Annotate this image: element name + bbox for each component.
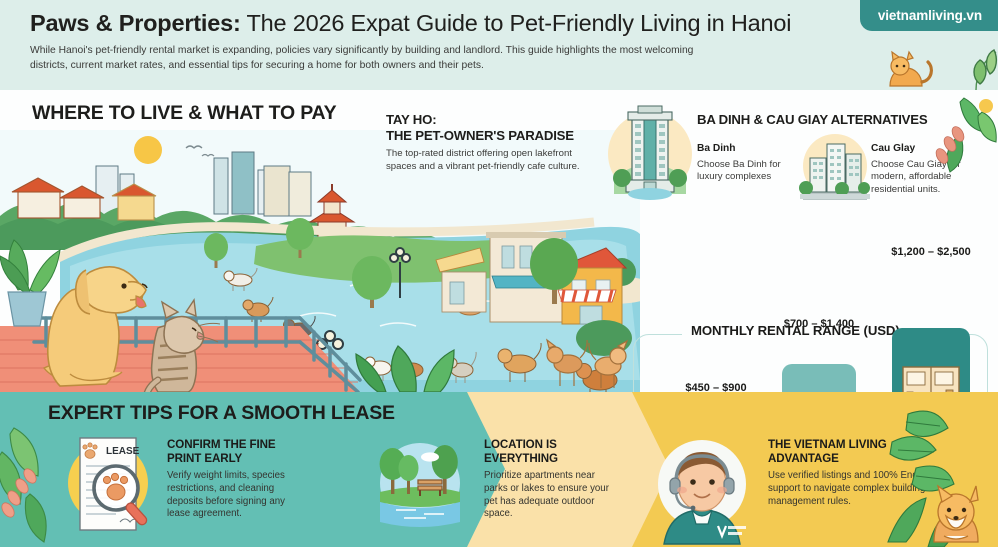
- tip1-heading: CONFIRM THE FINE PRINT EARLY: [167, 438, 297, 466]
- district-badinh-name: Ba Dinh: [697, 143, 789, 156]
- page-title-emphasis: Paws & Properties:: [30, 10, 241, 36]
- tayho-heading-line1: TAY HO:: [386, 112, 436, 127]
- tip2-heading: LOCATION IS EVERYTHING: [484, 438, 614, 466]
- park-bench-illustration: [374, 440, 466, 526]
- leaves-decor-right: [930, 90, 998, 200]
- two-dogs-illustration: [546, 336, 632, 392]
- leaves-decor-left: [0, 424, 62, 546]
- page-subtitle: While Hanoi's pet-friendly rental market…: [30, 44, 730, 73]
- page-title-rest: The 2026 Expat Guide to Pet-Friendly Liv…: [241, 10, 792, 36]
- tip-card-confirm-fine-print: CONFIRM THE FINE PRINT EARLY Verify weig…: [167, 438, 297, 521]
- lease-document-illustration: LEASE: [58, 428, 158, 538]
- tayho-heading: TAY HO: THE PET-OWNER'S PARADISE: [386, 112, 574, 144]
- shiba-dog-icon: [934, 486, 978, 542]
- district-badinh-body: Choose Ba Dinh for luxury complexes: [697, 159, 781, 183]
- tayho-heading-line2: THE PET-OWNER'S PARADISE: [386, 128, 574, 143]
- tip3-heading-line2: ADVANTAGE: [768, 452, 839, 465]
- middle-section: WHERE TO LIVE & WHAT TO PAY: [0, 90, 998, 392]
- alternatives-heading: BA DINH & CAU GIAY ALTERNATIVES: [697, 112, 927, 127]
- page-title: Paws & Properties: The 2026 Expat Guide …: [30, 8, 791, 38]
- header-decor-illustration: [880, 34, 998, 92]
- monstera-and-dog-illustration: [888, 392, 998, 547]
- tip3-heading-line1: THE VIETNAM LIVING: [768, 438, 887, 451]
- tip2-heading-line1: LOCATION IS: [484, 438, 557, 451]
- apartment-complex-illustration: [796, 130, 874, 208]
- brand-badge-label: vietnamliving.vn: [878, 8, 982, 23]
- tip1-heading-line1: CONFIRM THE FINE: [167, 438, 276, 451]
- brand-badge[interactable]: vietnamliving.vn: [860, 0, 998, 31]
- tips-heading: EXPERT TIPS FOR A SMOOTH LEASE: [48, 402, 395, 425]
- tip2-body: Prioritize apartments near parks or lake…: [484, 470, 614, 521]
- tip-card-location: LOCATION IS EVERYTHING Prioritize apartm…: [484, 438, 614, 521]
- tip1-heading-line2: PRINT EARLY: [167, 452, 242, 465]
- tayho-body: The top-rated district offering open lak…: [386, 147, 596, 173]
- district-badinh: Ba Dinh Choose Ba Dinh for luxury comple…: [697, 143, 789, 184]
- tip2-heading-line2: EVERYTHING: [484, 452, 558, 465]
- section-heading-where-to-live: WHERE TO LIVE & WHAT TO PAY: [32, 102, 336, 125]
- cat-icon: [890, 52, 931, 86]
- lease-document-label: LEASE: [106, 446, 140, 457]
- tips-section: EXPERT TIPS FOR A SMOOTH LEASE LEASE: [0, 392, 998, 547]
- header-band: Paws & Properties: The 2026 Expat Guide …: [0, 0, 998, 90]
- bar-value-two-bedroom: $1,200 – $2,500: [891, 246, 971, 258]
- tower-building-illustration: [604, 102, 696, 198]
- infographic-root: Paws & Properties: The 2026 Expat Guide …: [0, 0, 998, 547]
- tip1-body: Verify weight limits, species restrictio…: [167, 470, 297, 521]
- support-agent-illustration: [648, 432, 756, 544]
- bar-value-one-bedroom: $700 – $1,400: [784, 318, 854, 330]
